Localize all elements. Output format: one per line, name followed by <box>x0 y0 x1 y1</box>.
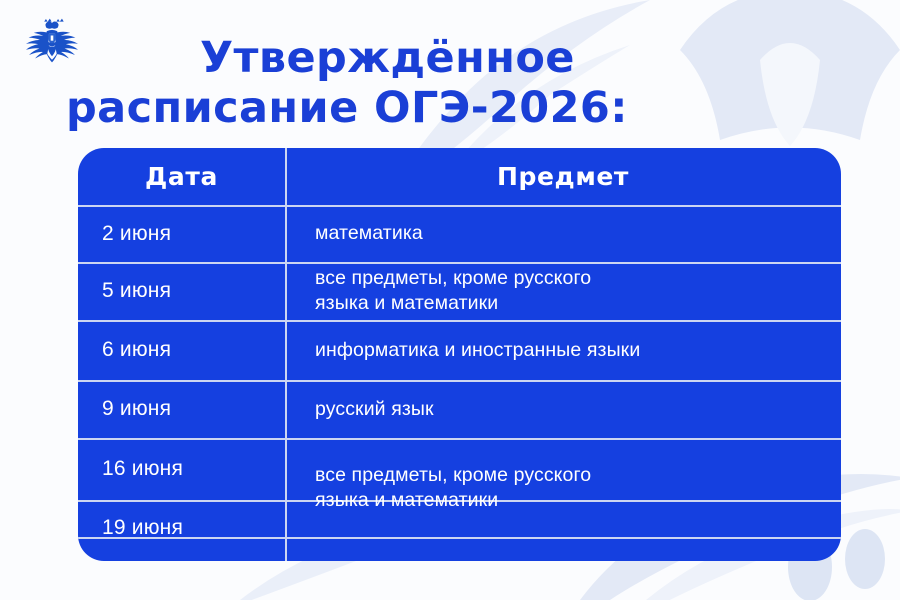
table-row: 9 июня <box>102 380 282 438</box>
title-line-1: Утверждённое <box>60 36 860 80</box>
table-cell-subject: информатика и иностранные языки <box>315 320 815 380</box>
double-headed-eagle-icon <box>26 18 78 66</box>
table-row: 16 июня <box>102 438 282 500</box>
table-row: 5 июня <box>102 262 282 320</box>
table-cell-subject: русский язык <box>315 380 815 438</box>
table-header-subject: Предмет <box>285 148 841 205</box>
table-row: 19 июня <box>102 500 282 556</box>
table-cell-subject: математика <box>315 205 815 262</box>
table-header-date: Дата <box>78 148 285 205</box>
table-cell-subject-merged: все предметы, кроме русского языка и мат… <box>315 438 815 537</box>
table-body: Дата Предмет 2 июня 5 июня 6 июня 9 июня… <box>78 148 841 561</box>
table-cell-subject: все предметы, кроме русского языка и мат… <box>315 262 815 320</box>
table-row: 2 июня <box>102 205 282 262</box>
title-line-2: расписание ОГЭ-2026: <box>60 86 860 130</box>
table-row: 6 июня <box>102 320 282 380</box>
exam-schedule-table: Дата Предмет 2 июня 5 июня 6 июня 9 июня… <box>78 148 841 561</box>
row-divider-6 <box>78 537 841 539</box>
page-title: Утверждённое расписание ОГЭ-2026: <box>60 36 860 130</box>
poster-canvas: Утверждённое расписание ОГЭ-2026: Дата П… <box>0 0 900 600</box>
